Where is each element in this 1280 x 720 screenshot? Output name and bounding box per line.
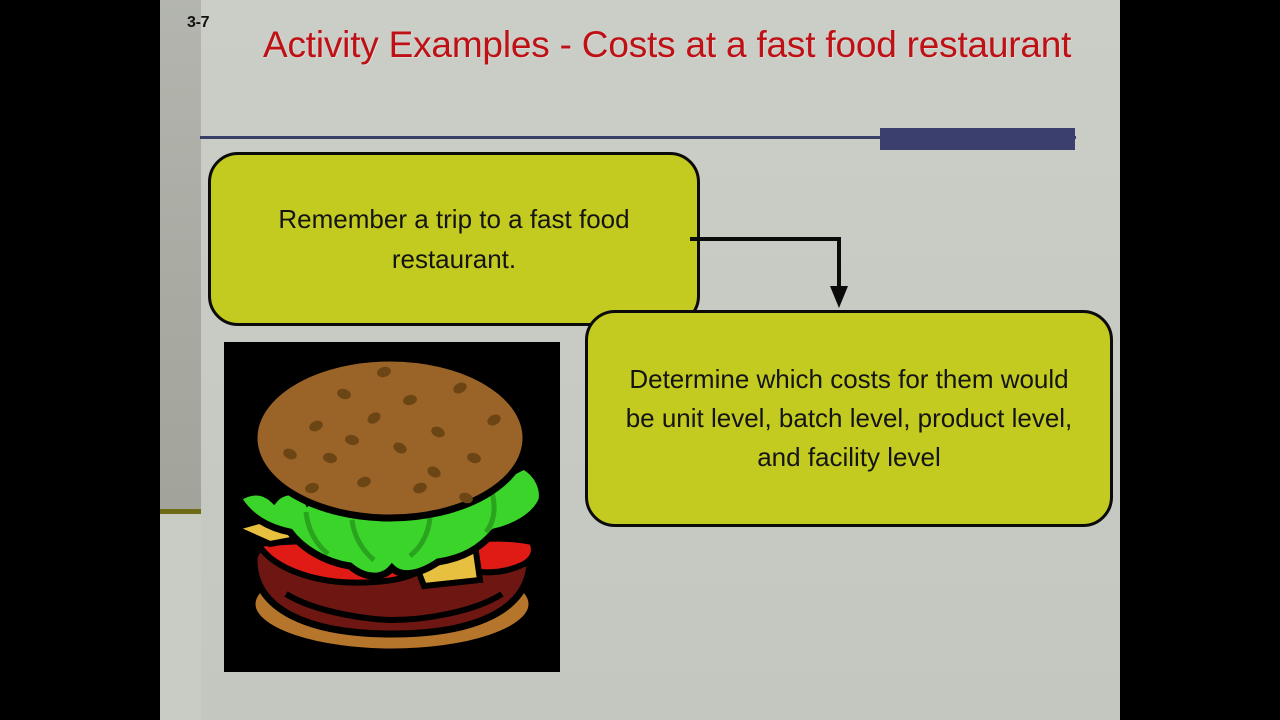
hamburger-icon	[224, 342, 560, 672]
slide-canvas: 3-7 Activity Examples - Costs at a fast …	[160, 0, 1120, 720]
callout-remember-text: Remember a trip to a fast food restauran…	[239, 199, 669, 279]
left-decorative-band	[160, 0, 201, 509]
letterbox-left	[0, 0, 160, 720]
screen: 3-7 Activity Examples - Costs at a fast …	[0, 0, 1280, 720]
left-band-lower-fill	[160, 514, 201, 720]
elbow-arrow-icon	[690, 228, 870, 318]
letterbox-right	[1120, 0, 1280, 720]
title-accent-block	[880, 128, 1075, 150]
hamburger-image	[224, 342, 560, 672]
callout-determine-text: Determine which costs for them would be …	[614, 360, 1084, 477]
callout-remember: Remember a trip to a fast food restauran…	[208, 152, 700, 326]
slide-number: 3-7	[187, 14, 209, 32]
callout-determine: Determine which costs for them would be …	[585, 310, 1113, 527]
page-title: Activity Examples - Costs at a fast food…	[263, 17, 1083, 72]
